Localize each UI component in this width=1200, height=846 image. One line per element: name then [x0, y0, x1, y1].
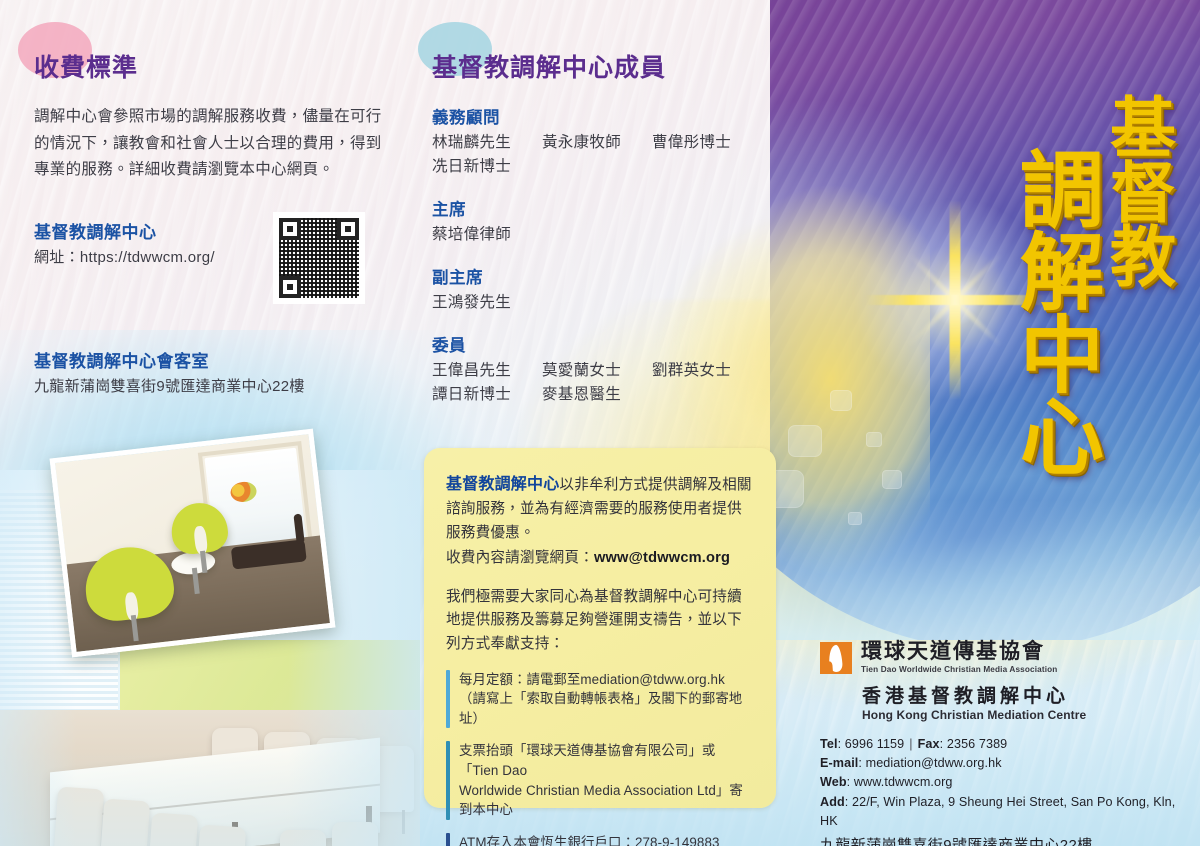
cover-title-char: 基 — [1110, 96, 1176, 161]
callout-intro-bold: 基督教調解中心 — [446, 476, 559, 493]
bokeh-hexagon — [788, 425, 822, 457]
member-name: 林瑞麟先生 — [432, 130, 542, 152]
member-group-title: 委員 — [432, 332, 792, 356]
donation-method-text: 支票抬頭「環球天道傳基協會有限公司」或「Tien Dao Worldwide C… — [459, 741, 754, 819]
web-label: Web — [820, 775, 847, 789]
cover-title-char: 教 — [1110, 225, 1176, 290]
contact-separator: | — [909, 737, 912, 751]
office-address-line: 九龍新蒲崗雙喜街9號匯達商業中心22樓 — [34, 375, 386, 396]
donation-method-text: 每月定額：請電郵至mediation@tdww.org.hk （請寫上「索取自動… — [459, 670, 754, 729]
brochure-page: 基 督 教 調 解 中 心 — [0, 0, 1200, 846]
member-name: 黃永康牧師 — [542, 130, 652, 152]
cover-title-char: 督 — [1110, 161, 1176, 226]
tel-value[interactable]: 6996 1159 — [845, 737, 905, 751]
qr-code-pattern — [279, 218, 359, 298]
member-name: 譚日新博士 — [432, 382, 542, 404]
cover-title-char: 調 — [1020, 150, 1104, 232]
members-column: 基督教調解中心成員 義務顧問 林瑞麟先生 黃永康牧師 曹偉彤博士 冼日新博士 主… — [432, 48, 792, 404]
qr-finder-top-right — [337, 218, 359, 240]
artwork-bottom-light — [770, 500, 1200, 640]
address-value-cn: 九龍新蒲崗雙喜街9號匯達商業中心22樓 — [820, 834, 1190, 846]
donation-method-item: ATM存入本會恆生銀行戶口：278-9-149883 帳名：「環球天道傳基協會有… — [446, 833, 754, 846]
flame-logo-icon — [820, 642, 852, 674]
bokeh-hexagon — [848, 512, 862, 525]
member-row: 王偉昌先生 莫愛蘭女士 劉群英女士 — [432, 358, 792, 380]
office-block-title: 基督教調解中心會客室 — [34, 347, 386, 372]
bokeh-hexagon — [830, 390, 852, 411]
bokeh-hexagon — [882, 470, 902, 489]
flame-shape — [828, 645, 843, 673]
qr-finder-bottom-left — [279, 276, 301, 298]
lounge-photo — [50, 429, 336, 658]
donation-method-line: 每月定額：請電郵至mediation@tdww.org.hk — [459, 670, 754, 690]
contact-web-row: Web: www.tdwwcm.org — [820, 773, 1190, 792]
fees-heading-wrap: 收費標準 — [34, 48, 138, 84]
email-value[interactable]: mediation@tdww.org.hk — [866, 756, 1002, 770]
centre-name-cn: 香港基督教調解中心 — [862, 681, 1190, 708]
centre-name-en: Hong Kong Christian Mediation Centre — [862, 708, 1190, 722]
members-heading: 基督教調解中心成員 — [432, 48, 666, 84]
photo-chair — [54, 786, 104, 846]
member-group: 委員 王偉昌先生 莫愛蘭女士 劉群英女士 譚日新博士 麥基恩醫生 — [432, 332, 792, 404]
donation-method-item: 每月定額：請電郵至mediation@tdww.org.hk （請寫上「索取自動… — [446, 670, 754, 729]
callout-fee-url[interactable]: www@tdwwcm.org — [594, 550, 730, 566]
member-row: 譚日新博士 麥基恩醫生 — [432, 382, 792, 404]
cover-title-column-left: 調 解 中 心 — [1020, 150, 1104, 479]
bullet-bar — [446, 670, 450, 729]
member-name: 冼日新博士 — [432, 154, 542, 176]
member-row: 王鴻發先生 — [432, 290, 792, 312]
organisation-name-en: Tien Dao Worldwide Christian Media Assoc… — [861, 665, 1057, 674]
organisation-name-cn: 環球天道傳基協會 — [861, 640, 1057, 663]
member-group-title: 義務顧問 — [432, 104, 792, 128]
callout-spacer — [446, 571, 754, 586]
photo-chair — [148, 812, 198, 846]
donation-method-text: ATM存入本會恆生銀行戶口：278-9-149883 帳名：「環球天道傳基協會有… — [459, 833, 720, 846]
callout-appeal: 我們極需要大家同心為基督教調解中心可持續地提供服務及籌募足夠營運開支禱告，並以下… — [446, 586, 754, 657]
cover-title-char: 中 — [1020, 315, 1104, 397]
organisation-logo-row: 環球天道傳基協會 Tien Dao Worldwide Christian Me… — [820, 640, 1190, 674]
contact-email-row: E-mail: mediation@tdww.org.hk — [820, 754, 1190, 773]
web-value[interactable]: www.tdwwcm.org — [854, 775, 953, 789]
member-row: 林瑞麟先生 黃永康牧師 曹偉彤博士 — [432, 130, 792, 152]
member-group: 主席 蔡培偉律師 — [432, 196, 792, 244]
donation-method-line: Worldwide Christian Media Association Lt… — [459, 781, 754, 820]
cover-title-column-right: 基 督 教 — [1110, 96, 1176, 290]
donation-method-item: 支票抬頭「環球天道傳基協會有限公司」或「Tien Dao Worldwide C… — [446, 741, 754, 819]
donation-method-line: （請寫上「索取自動轉帳表格」及閣下的郵寄地址） — [459, 689, 754, 728]
member-name: 蔡培偉律師 — [432, 222, 542, 244]
donation-method-line: 支票抬頭「環球天道傳基協會有限公司」或「Tien Dao — [459, 741, 754, 780]
address-value: 22/F, Win Plaza, 9 Sheung Hei Street, Sa… — [820, 795, 1175, 828]
member-group-title: 主席 — [432, 196, 792, 220]
members-heading-wrap: 基督教調解中心成員 — [432, 48, 666, 84]
photo-chair — [100, 798, 150, 846]
fax-value: 2356 7389 — [947, 737, 1007, 751]
organisation-names: 環球天道傳基協會 Tien Dao Worldwide Christian Me… — [861, 640, 1057, 674]
member-group-title: 副主席 — [432, 264, 792, 288]
photo-chair — [332, 822, 378, 846]
contact-tel-fax-row: Tel: 6996 1159|Fax: 2356 7389 — [820, 735, 1190, 754]
qr-finder-top-left — [279, 218, 301, 240]
tel-label: Tel — [820, 737, 838, 751]
member-row: 蔡培偉律師 — [432, 222, 792, 244]
donation-callout: 基督教調解中心以非牟利方式提供調解及相關諮詢服務，並為有經濟需要的服務使用者提供… — [424, 448, 776, 808]
member-group: 義務顧問 林瑞麟先生 黃永康牧師 曹偉彤博士 冼日新博士 — [432, 104, 792, 176]
fees-heading: 收費標準 — [34, 48, 138, 84]
member-row: 冼日新博士 — [432, 154, 792, 176]
member-name: 麥基恩醫生 — [542, 382, 652, 404]
cover-title-char: 解 — [1020, 232, 1104, 314]
member-name: 王偉昌先生 — [432, 358, 542, 380]
member-name: 莫愛蘭女士 — [542, 358, 652, 380]
fax-label: Fax — [918, 737, 940, 751]
member-name: 王鴻發先生 — [432, 290, 542, 312]
member-name: 劉群英女士 — [652, 358, 762, 380]
qr-code[interactable] — [273, 212, 365, 304]
cross-horizontal-beam — [865, 295, 1045, 305]
bullet-bar — [446, 741, 450, 819]
callout-fee-line: 收費內容請瀏覽網頁：www@tdwwcm.org — [446, 547, 754, 571]
address-label: Add — [820, 795, 845, 809]
donation-method-line: ATM存入本會恆生銀行戶口：278-9-149883 — [459, 833, 720, 846]
contact-block: 環球天道傳基協會 Tien Dao Worldwide Christian Me… — [820, 640, 1190, 846]
bokeh-hexagon — [866, 432, 882, 447]
contact-address-row: Add: 22/F, Win Plaza, 9 Sheung Hei Stree… — [820, 793, 1190, 831]
contact-details: Tel: 6996 1159|Fax: 2356 7389 E-mail: me… — [820, 735, 1190, 831]
photo-chair — [280, 830, 326, 846]
bullet-bar — [446, 833, 450, 846]
callout-intro: 基督教調解中心以非牟利方式提供調解及相關諮詢服務，並為有經濟需要的服務使用者提供… — [446, 472, 754, 545]
photo-chair — [196, 824, 246, 846]
fees-body-text: 調解中心會參照市場的調解服務收費，儘量在可行的情況下，讓教會和社會人士以合理的費… — [34, 104, 386, 184]
member-group: 副主席 王鴻發先生 — [432, 264, 792, 312]
cover-title-char: 心 — [1020, 397, 1104, 479]
member-name: 曹偉彤博士 — [652, 130, 762, 152]
email-label: E-mail — [820, 756, 858, 770]
callout-fee-prefix: 收費內容請瀏覽網頁： — [446, 550, 594, 566]
